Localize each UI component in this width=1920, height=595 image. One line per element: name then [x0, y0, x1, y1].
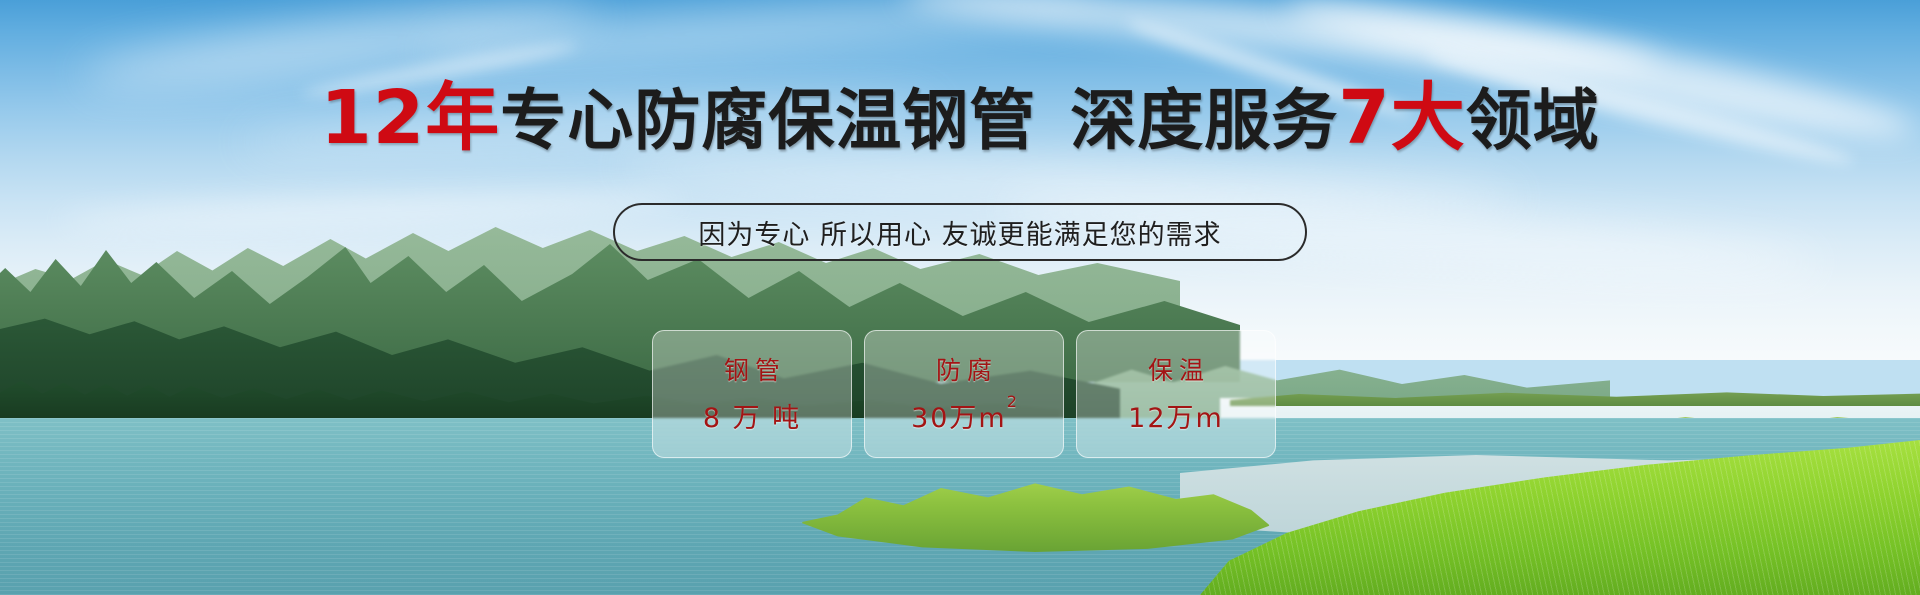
stat-card-group: 钢管 8 万 吨 防腐 30万m2 保温 12万m [652, 330, 1276, 458]
stat-card-value: 30万m2 [911, 396, 1017, 435]
stat-card-insulation[interactable]: 保温 12万m [1076, 330, 1276, 458]
headline-seven: 7大 [1338, 75, 1466, 161]
promo-banner: 12年专心防腐保温钢管深度服务7大领域 因为专心 所以用心 友诚更能满足您的需求… [0, 0, 1920, 595]
subtitle-pill: 因为专心 所以用心 友诚更能满足您的需求 [613, 203, 1307, 261]
stat-value-main: 12万m [1128, 403, 1224, 434]
headline-fields: 领域 [1466, 82, 1600, 159]
headline-years: 12年 [320, 75, 500, 161]
stat-card-title: 防腐 [930, 351, 998, 387]
subtitle-text: 因为专心 所以用心 友诚更能满足您的需求 [698, 213, 1221, 252]
stat-card-value: 12万m [1128, 396, 1224, 435]
stat-card-title: 保温 [1142, 351, 1210, 387]
banner-headline: 12年专心防腐保温钢管深度服务7大领域 [0, 82, 1920, 157]
stat-card-title: 钢管 [718, 351, 786, 387]
stat-card-steel-pipe[interactable]: 钢管 8 万 吨 [652, 330, 852, 458]
stat-value-main: 30万m [911, 403, 1007, 434]
stat-value-superscript: 2 [1007, 392, 1017, 411]
stat-card-value: 8 万 吨 [703, 396, 801, 435]
headline-service: 深度服务 [1070, 82, 1338, 159]
stat-value-main: 8 万 吨 [703, 403, 801, 434]
stat-card-anticorrosion[interactable]: 防腐 30万m2 [864, 330, 1064, 458]
headline-main: 专心防腐保温钢管 [500, 82, 1036, 159]
